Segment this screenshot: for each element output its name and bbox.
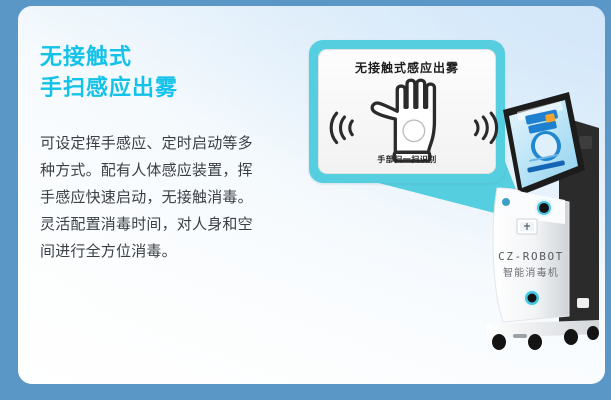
- kiosk-brand-text: CZ-ROBOT: [498, 250, 564, 263]
- signal-wave-left-icon: [331, 113, 352, 142]
- body-line-5: 间进行全方位消毒。: [40, 238, 292, 265]
- hand-icon: [372, 80, 434, 161]
- page-title: 无接触式 手扫感应出雾: [40, 42, 178, 104]
- indicator-led-icon: [502, 198, 510, 206]
- body-line-4: 灵活配置消毒时间，对人身和空: [40, 211, 292, 238]
- body-line-1: 可设定挥手感应、定时启动等多: [40, 130, 292, 157]
- headline-line-1: 无接触式: [40, 42, 178, 73]
- disinfection-kiosk: CZ-ROBOT 智能消毒机: [473, 84, 605, 380]
- description-text: 可设定挥手感应、定时启动等多 种方式。配有人体感应装置，挥 手感应快速启动，无接…: [40, 130, 292, 265]
- kiosk-base: [487, 320, 599, 338]
- rear-vent: [579, 136, 592, 149]
- callout-panel: 无接触式感应出雾: [318, 49, 496, 174]
- content-card: 无接触式 手扫感应出雾 可设定挥手感应、定时启动等多 种方式。配有人体感应装置，…: [18, 6, 605, 384]
- body-line-3: 手感应快速启动，无接触消毒。: [40, 184, 292, 211]
- callout-title: 无接触式感应出雾: [319, 59, 495, 76]
- rear-port: [577, 298, 589, 308]
- callout-caption: 手部扫一扫识别: [319, 154, 495, 165]
- kiosk-model-text: 智能消毒机: [503, 266, 559, 279]
- base-bar: [513, 334, 527, 338]
- instruction-sticker-icon: [517, 219, 537, 234]
- body-line-2: 种方式。配有人体感应装置，挥: [40, 157, 292, 184]
- page-frame: 无接触式 手扫感应出雾 可设定挥手感应、定时启动等多 种方式。配有人体感应装置，…: [0, 0, 611, 400]
- headline-line-2: 手扫感应出雾: [40, 73, 178, 104]
